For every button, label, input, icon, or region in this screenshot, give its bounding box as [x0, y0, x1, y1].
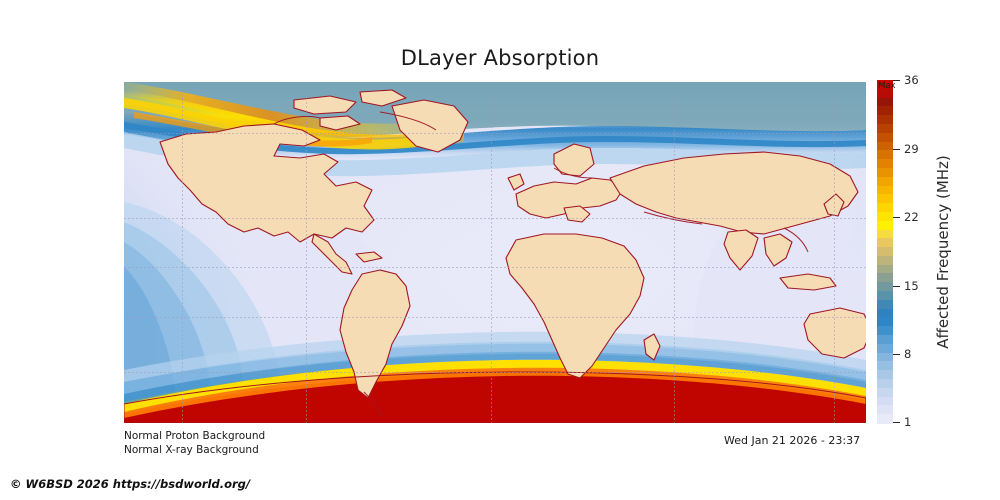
colorbar-tick [893, 422, 900, 423]
colorbar-tick-label: 8 [904, 347, 911, 361]
timestamp: Wed Jan 21 2026 - 23:37 [724, 434, 860, 447]
colorbar-axis-label: Affected Frequency (MHz) [932, 80, 954, 423]
colorbar-tick [893, 217, 900, 218]
colorbar-tick-label: 15 [904, 279, 919, 293]
colorbar-tick [893, 354, 900, 355]
colorbar-axis-label-text: Affected Frequency (MHz) [934, 155, 952, 349]
world-absorption-map[interactable] [124, 82, 866, 423]
colorbar-tick-label: 36 [904, 73, 919, 87]
proton-background-note: Normal Proton Background [124, 430, 265, 442]
colorbar-tick [893, 149, 900, 150]
colorbar-tick-label: 22 [904, 210, 919, 224]
colorbar-tick [893, 80, 900, 81]
map-raster [124, 82, 866, 423]
xray-background-note: Normal X-ray Background [124, 444, 259, 456]
page-title: DLayer Absorption [0, 46, 1000, 70]
credit-line: © W6BSD 2026 https://bsdworld.org/ [10, 477, 250, 491]
colorbar-tick-label: 29 [904, 142, 919, 156]
colorbar-tick-label: 1 [904, 415, 911, 429]
colorbar-segment [877, 414, 893, 423]
colorbar-tick [893, 286, 900, 287]
figure-canvas: DLayer Absorption [0, 0, 1000, 500]
colorbar[interactable]: Max [877, 80, 893, 423]
colorbar-gradient [877, 80, 893, 423]
